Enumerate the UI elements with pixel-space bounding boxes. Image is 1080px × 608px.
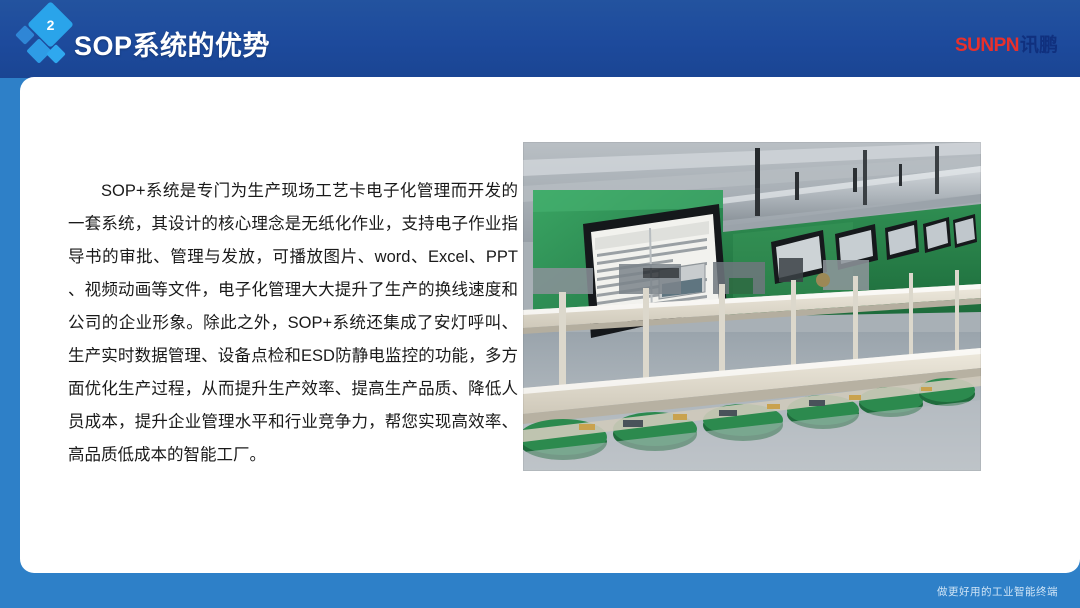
brand-logo: SUNPN讯鹏 [955,30,1058,57]
footer-bar: 做更好用的工业智能终端 [0,573,1080,608]
slide-number-label: 2 [34,8,67,41]
slide-number-diamond-cluster: 2 [14,6,76,68]
brand-logo-en: SUNPN [955,35,1019,56]
slide-header: 2 SOP系统的优势 SUNPN讯鹏 [0,0,1080,78]
photo-illustration [523,142,981,471]
content-panel: SOP+系统是专门为生产现场工艺卡电子化管理而开发的一套系统，其设计的核心理念是… [20,77,1080,573]
footer-tagline: 做更好用的工业智能终端 [937,584,1058,599]
slide-number-diamond: 2 [27,1,74,48]
brand-logo-cn: 讯鹏 [1020,35,1058,56]
production-line-photo [523,142,981,471]
page-title: SOP系统的优势 [74,24,270,63]
body-paragraph: SOP+系统是专门为生产现场工艺卡电子化管理而开发的一套系统，其设计的核心理念是… [68,175,518,472]
decorative-diamond-small-right [46,44,66,64]
